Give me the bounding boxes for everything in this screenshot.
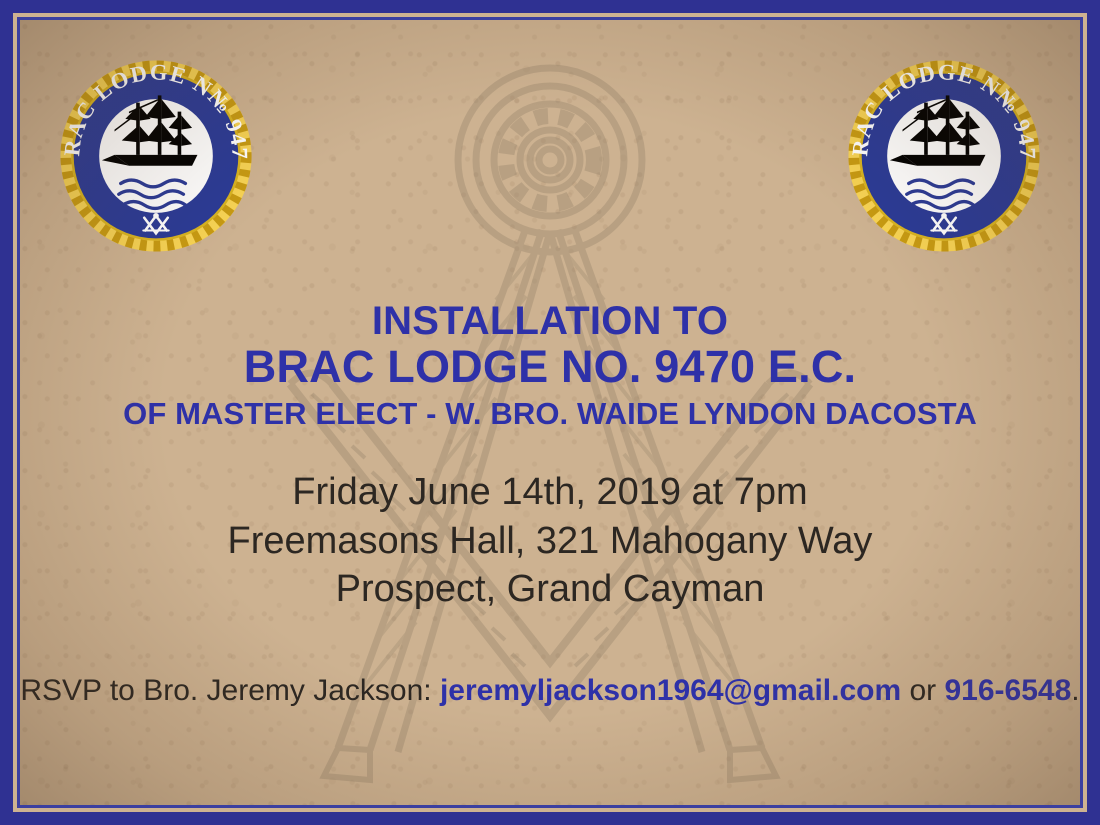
title-line-3: OF MASTER ELECT - W. BRO. WAIDE LYNDON D… [20, 398, 1080, 431]
rsvp-prefix: RSVP to Bro. Jeremy Jackson: [20, 674, 440, 707]
title-block: INSTALLATION TO BRAC LODGE NO. 9470 E.C.… [20, 301, 1080, 430]
rsvp-email[interactable]: jeremyljackson1964@gmail.com [440, 674, 901, 707]
title-line-2: BRAC LODGE NO. 9470 E.C. [20, 344, 1080, 391]
event-venue: Freemasons Hall, 321 Mahogany Way [20, 517, 1080, 566]
event-location: Prospect, Grand Cayman [20, 565, 1080, 614]
event-details: Friday June 14th, 2019 at 7pm Freemasons… [20, 468, 1080, 614]
rsvp-suffix: . [1071, 674, 1079, 707]
rsvp-line: RSVP to Bro. Jeremy Jackson: jeremyljack… [20, 674, 1080, 708]
parchment-background: BRAC LODGE N№ 9470 [20, 20, 1080, 805]
title-line-1: INSTALLATION TO [20, 301, 1080, 341]
rsvp-phone[interactable]: 916-6548 [945, 674, 1072, 707]
invitation-card: BRAC LODGE N№ 9470 [0, 0, 1100, 825]
rsvp-conjunction: or [901, 674, 944, 707]
event-date: Friday June 14th, 2019 at 7pm [20, 468, 1080, 517]
invitation-content: INSTALLATION TO BRAC LODGE NO. 9470 E.C.… [20, 20, 1080, 805]
